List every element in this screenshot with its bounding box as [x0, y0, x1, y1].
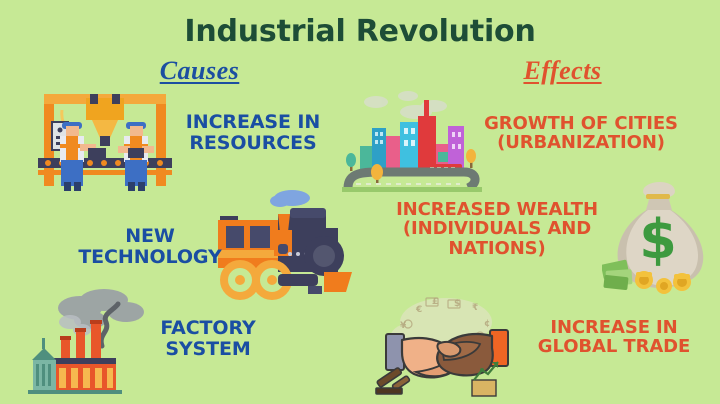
city-skyline-icon [342, 88, 482, 192]
column-heading-effects: Effects [470, 56, 655, 86]
cause-label-line-1: FACTORY [160, 317, 255, 339]
effect-label-line-1: INCREASE IN [550, 317, 677, 338]
column-heading-causes: Causes [112, 56, 287, 86]
dollar-sign-glyph: $ [639, 208, 677, 271]
cause-label-increase-in-resources: INCREASE IN RESOURCES [168, 112, 338, 153]
cause-label-line-2: TECHNOLOGY [78, 246, 221, 268]
page-title: Industrial Revolution [0, 14, 720, 49]
effect-label-increased-wealth: INCREASED WEALTH (INDIVIDUALS AND NATION… [372, 200, 622, 258]
effect-label-line-3: NATIONS) [448, 238, 545, 259]
svg-text:€: € [415, 305, 422, 315]
svg-text:¢: ¢ [484, 319, 490, 329]
cause-label-factory-system: FACTORY SYSTEM [128, 318, 288, 359]
cause-label-line-1: NEW [125, 225, 175, 247]
effect-label-line-2: GLOBAL TRADE [538, 336, 690, 357]
effect-label-line-1: GROWTH OF CITIES [484, 113, 678, 134]
cause-label-line-2: SYSTEM [165, 338, 250, 360]
svg-text:¥: ¥ [400, 321, 407, 331]
effect-label-line-1: INCREASED WEALTH [396, 199, 598, 220]
svg-text:₹: ₹ [472, 303, 478, 313]
effect-label-line-2: (URBANIZATION) [497, 132, 665, 153]
effect-label-growth-of-cities: GROWTH OF CITIES (URBANIZATION) [468, 114, 694, 153]
infographic-slide: Industrial Revolution Causes Effects [0, 0, 720, 404]
effect-label-increase-in-global-trade: INCREASE IN GLOBAL TRADE [514, 318, 714, 357]
cause-label-line-1: INCREASE IN [186, 111, 320, 133]
cause-label-line-2: RESOURCES [189, 132, 316, 154]
handshake-icon: ¥ € £ $ ₹ ¢ ₽ $ [372, 288, 522, 400]
cause-label-new-technology: NEW TECHNOLOGY [60, 226, 240, 267]
assembly-line-workers-icon [30, 86, 180, 191]
effect-label-line-2: (INDIVIDUALS AND [403, 218, 591, 239]
